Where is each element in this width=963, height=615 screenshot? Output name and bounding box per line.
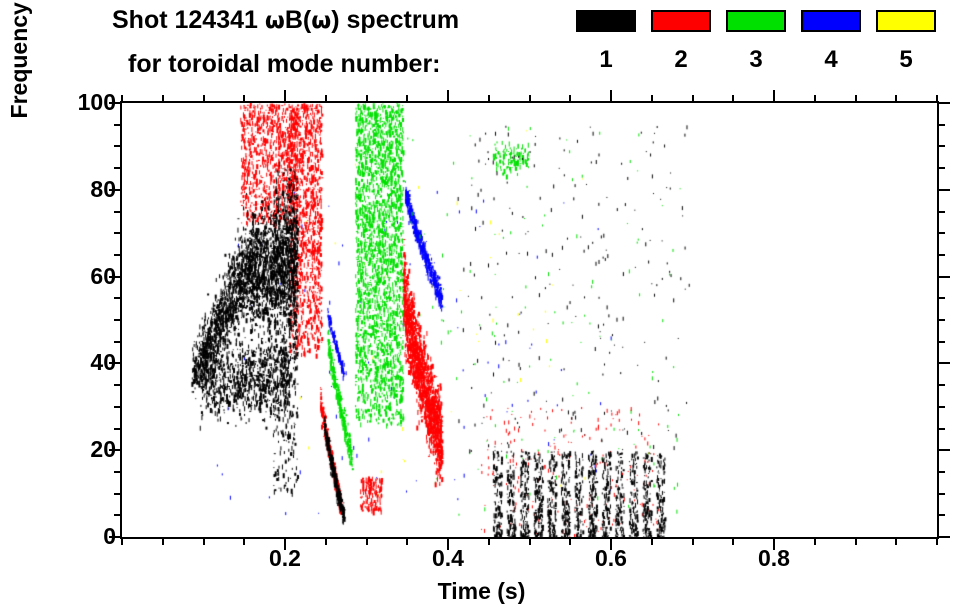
x-tick-0.9 — [855, 537, 857, 545]
y-tick-right-0 — [937, 536, 950, 538]
x-tick-top-0.45 — [488, 95, 490, 103]
title-shot-text: Shot 124341 — [112, 6, 265, 34]
y-tick-right-85 — [937, 167, 945, 169]
y-tick-right-35 — [937, 384, 945, 386]
y-tick-label-100: 100 — [78, 91, 116, 114]
x-tick-1 — [936, 537, 938, 545]
y-tick-95 — [114, 124, 122, 126]
x-tick-top-0.25 — [325, 95, 327, 103]
x-tick-top-0.95 — [895, 95, 897, 103]
y-tick-right-40 — [937, 362, 950, 364]
y-tick-right-75 — [937, 211, 945, 213]
x-tick-0.7 — [692, 537, 694, 545]
y-tick-65 — [114, 254, 122, 256]
x-tick-top-0.1 — [203, 95, 205, 103]
x-tick-top-1 — [936, 95, 938, 103]
x-tick-0.1 — [203, 537, 205, 545]
y-tick-right-55 — [937, 297, 945, 299]
legend-label-5: 5 — [876, 48, 936, 72]
x-tick-top-0.4 — [447, 90, 449, 103]
title-b-text: B( — [285, 6, 311, 34]
legend-item-2[interactable]: 2 — [651, 10, 719, 72]
x-tick-top-0.8 — [773, 90, 775, 103]
x-tick-0.15 — [243, 537, 245, 545]
x-tick-label-0.4: 0.4 — [408, 547, 488, 570]
x-tick-top-0.15 — [243, 95, 245, 103]
legend-item-5[interactable]: 5 — [876, 10, 944, 72]
y-tick-35 — [114, 384, 122, 386]
y-tick-right-25 — [937, 428, 945, 430]
y-tick-label-40: 40 — [90, 351, 116, 374]
y-tick-85 — [114, 167, 122, 169]
y-axis-title: Frequency (kHz) — [6, 0, 33, 174]
x-tick-label-0.6: 0.6 — [571, 547, 651, 570]
x-tick-top-0.05 — [162, 95, 164, 103]
x-tick-top-0.55 — [569, 95, 571, 103]
x-tick-0.85 — [814, 537, 816, 545]
y-tick-right-20 — [937, 449, 950, 451]
y-tick-right-5 — [937, 514, 945, 516]
legend-label-4: 4 — [801, 48, 861, 72]
y-tick-right-45 — [937, 341, 945, 343]
x-tick-0.3 — [366, 537, 368, 545]
omega-symbol-2: ω — [311, 8, 331, 34]
y-tick-right-60 — [937, 276, 950, 278]
x-tick-0.95 — [895, 537, 897, 545]
legend-swatch-4 — [801, 10, 861, 32]
y-tick-right-65 — [937, 254, 945, 256]
legend-swatch-5 — [876, 10, 936, 32]
spectrogram-scatter-canvas — [122, 103, 937, 537]
y-tick-70 — [114, 232, 122, 234]
title-spectrum-text: ) spectrum — [331, 6, 459, 34]
x-tick-0.65 — [651, 537, 653, 545]
y-tick-right-15 — [937, 471, 945, 473]
legend-label-2: 2 — [651, 48, 711, 72]
y-tick-30 — [114, 406, 122, 408]
x-tick-0.35 — [406, 537, 408, 545]
x-tick-top-0.65 — [651, 95, 653, 103]
legend-swatch-2 — [651, 10, 711, 32]
x-tick-top-0.3 — [366, 95, 368, 103]
x-tick-top-0.75 — [732, 95, 734, 103]
x-tick-top-0.85 — [814, 95, 816, 103]
x-axis-title: Time (s) — [0, 578, 963, 605]
plot-area: 0204060801000.20.40.60.8 — [120, 101, 939, 539]
y-tick-50 — [114, 319, 122, 321]
x-tick-label-0.8: 0.8 — [734, 547, 814, 570]
legend-label-3: 3 — [726, 48, 786, 72]
y-tick-right-70 — [937, 232, 945, 234]
legend-label-1: 1 — [576, 48, 636, 72]
y-tick-75 — [114, 211, 122, 213]
legend-item-4[interactable]: 4 — [801, 10, 869, 72]
x-tick-0.55 — [569, 537, 571, 545]
y-tick-right-50 — [937, 319, 945, 321]
y-tick-10 — [114, 493, 122, 495]
x-tick-label-0.2: 0.2 — [245, 547, 325, 570]
y-tick-right-100 — [937, 102, 950, 104]
y-tick-right-10 — [937, 493, 945, 495]
y-tick-right-80 — [937, 189, 950, 191]
x-tick-0.5 — [529, 537, 531, 545]
y-tick-55 — [114, 297, 122, 299]
x-tick-top-0.2 — [284, 90, 286, 103]
y-tick-right-90 — [937, 145, 945, 147]
figure-title-line-2: for toroidal mode number: — [128, 50, 441, 79]
y-tick-label-0: 0 — [103, 525, 116, 548]
x-tick-top-0.5 — [529, 95, 531, 103]
y-tick-label-80: 80 — [90, 178, 116, 201]
x-tick-top-0.6 — [610, 90, 612, 103]
x-tick-0.45 — [488, 537, 490, 545]
y-tick-right-95 — [937, 124, 945, 126]
omega-symbol-1: ω — [265, 8, 285, 34]
x-tick-0.75 — [732, 537, 734, 545]
y-tick-right-30 — [937, 406, 945, 408]
x-tick-top-0.9 — [855, 95, 857, 103]
y-tick-5 — [114, 514, 122, 516]
figure-root: Shot 124341 ωB(ω) spectrum for toroidal … — [0, 0, 963, 615]
figure-title-line-1: Shot 124341 ωB(ω) spectrum — [112, 6, 459, 35]
x-tick-top-0.7 — [692, 95, 694, 103]
x-tick-0.05 — [162, 537, 164, 545]
y-tick-90 — [114, 145, 122, 147]
y-tick-15 — [114, 471, 122, 473]
x-tick-top-0.35 — [406, 95, 408, 103]
legend-item-1[interactable]: 1 — [576, 10, 644, 72]
legend-item-3[interactable]: 3 — [726, 10, 794, 72]
x-tick-top-0 — [121, 95, 123, 103]
legend: 12345 — [576, 10, 956, 90]
x-tick-0 — [121, 537, 123, 545]
legend-swatch-3 — [726, 10, 786, 32]
x-tick-0.25 — [325, 537, 327, 545]
y-tick-45 — [114, 341, 122, 343]
y-tick-label-20: 20 — [90, 438, 116, 461]
y-tick-label-60: 60 — [90, 265, 116, 288]
legend-swatch-1 — [576, 10, 636, 32]
y-tick-25 — [114, 428, 122, 430]
